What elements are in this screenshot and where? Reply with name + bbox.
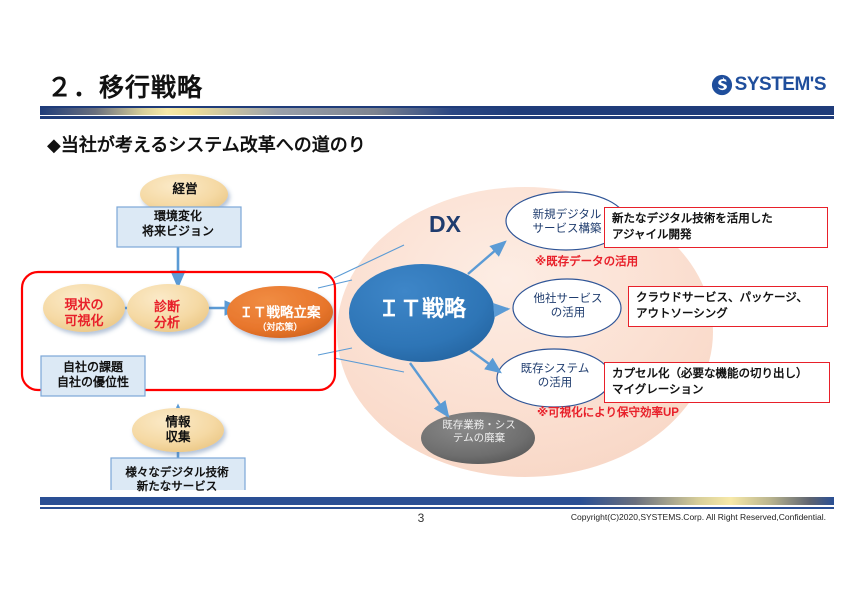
info-line2: 収集 xyxy=(142,430,214,445)
footer-hairline xyxy=(40,507,834,509)
callout1-line1: 新たなデジタル技術を活用した xyxy=(612,212,821,228)
outcome3-line1: 既存システム xyxy=(500,362,610,376)
label-environment-change: 環境変化 将来ビジョン xyxy=(118,209,238,238)
label-outcome-other-services: 他社サービス の活用 xyxy=(518,292,618,320)
label-discard-legacy: 既存業務・シス テムの廃棄 xyxy=(424,419,534,445)
callout-agile-development: 新たなデジタル技術を活用した アジャイル開発 xyxy=(604,207,828,248)
label-diagnose-analyze: 診断 分析 xyxy=(136,299,198,331)
diagnose-line1: 診断 xyxy=(136,299,198,315)
outcome2-line1: 他社サービス xyxy=(518,292,618,306)
section-bullet: ◆当社が考えるシステム改革への道のり xyxy=(47,131,366,157)
planning-main: ＩＴ戦略立案 xyxy=(230,305,330,321)
env-line1: 環境変化 xyxy=(118,209,238,224)
planning-sub: （対応策） xyxy=(230,322,330,333)
divider-gradient-band xyxy=(40,108,834,115)
issues-line2: 自社の優位性 xyxy=(44,375,142,390)
env-line2: 将来ビジョン xyxy=(118,224,238,239)
divider-hairline-bottom xyxy=(40,116,834,119)
label-it-strategy-planning: ＩＴ戦略立案 （対応策） xyxy=(230,305,330,333)
label-own-issues: 自社の課題 自社の優位性 xyxy=(44,360,142,389)
label-dx: DX xyxy=(415,210,475,238)
label-outcome-legacy-systems: 既存システム の活用 xyxy=(500,362,610,390)
outcome2-line2: の活用 xyxy=(518,306,618,320)
callout1-line2: アジャイル開発 xyxy=(612,228,821,244)
discard-line2: テムの廃棄 xyxy=(424,432,534,445)
footer-divider xyxy=(40,497,834,509)
header-divider xyxy=(40,106,834,119)
visualize-line1: 現状の xyxy=(47,297,121,313)
info-line1: 情報 xyxy=(142,415,214,430)
label-management: 経営 xyxy=(145,182,225,197)
label-it-strategy-core: ＩＴ戦略 xyxy=(352,296,492,323)
callout2-line2: アウトソーシング xyxy=(636,307,821,323)
note-maintenance-efficiency: ※可視化により保守効率UP xyxy=(537,404,679,420)
logo-text: SYSTEM'S xyxy=(735,74,826,96)
slide: ２．移行戦略 SYSTEM'S ◆当社が考えるシステム改革への道のり xyxy=(0,0,842,595)
arrow-core-to-other-services xyxy=(496,309,508,310)
page-title: ２．移行戦略 xyxy=(47,68,203,104)
diagnose-line2: 分析 xyxy=(136,315,198,331)
s-swirl-icon xyxy=(711,74,733,96)
outcome3-line2: の活用 xyxy=(500,376,610,390)
discard-line1: 既存業務・シス xyxy=(424,419,534,432)
callout-cloud-outsourcing: クラウドサービス、パッケージ、 アウトソーシング xyxy=(628,286,828,327)
callout2-line1: クラウドサービス、パッケージ、 xyxy=(636,291,821,307)
callout3-line2: マイグレーション xyxy=(612,383,823,399)
footer-gradient-band xyxy=(40,497,834,505)
issues-line1: 自社の課題 xyxy=(44,360,142,375)
label-visualize-current: 現状の 可視化 xyxy=(47,297,121,329)
visualize-line2: 可視化 xyxy=(47,313,121,329)
company-logo: SYSTEM'S xyxy=(711,74,826,96)
callout-encapsulation-migration: カプセル化（必要な機能の切り出し） マイグレーション xyxy=(604,362,830,403)
digital-line2: 新たなサービス xyxy=(112,480,242,494)
copyright-text: Copyright(C)2020,SYSTEMS.Corp. All Right… xyxy=(571,512,826,522)
label-info-gathering: 情報 収集 xyxy=(142,415,214,446)
digital-line1: 様々なデジタル技術 xyxy=(112,466,242,480)
note-existing-data: ※既存データの活用 xyxy=(535,253,638,269)
label-digital-tech: 様々なデジタル技術 新たなサービス xyxy=(112,466,242,494)
callout3-line1: カプセル化（必要な機能の切り出し） xyxy=(612,367,823,383)
